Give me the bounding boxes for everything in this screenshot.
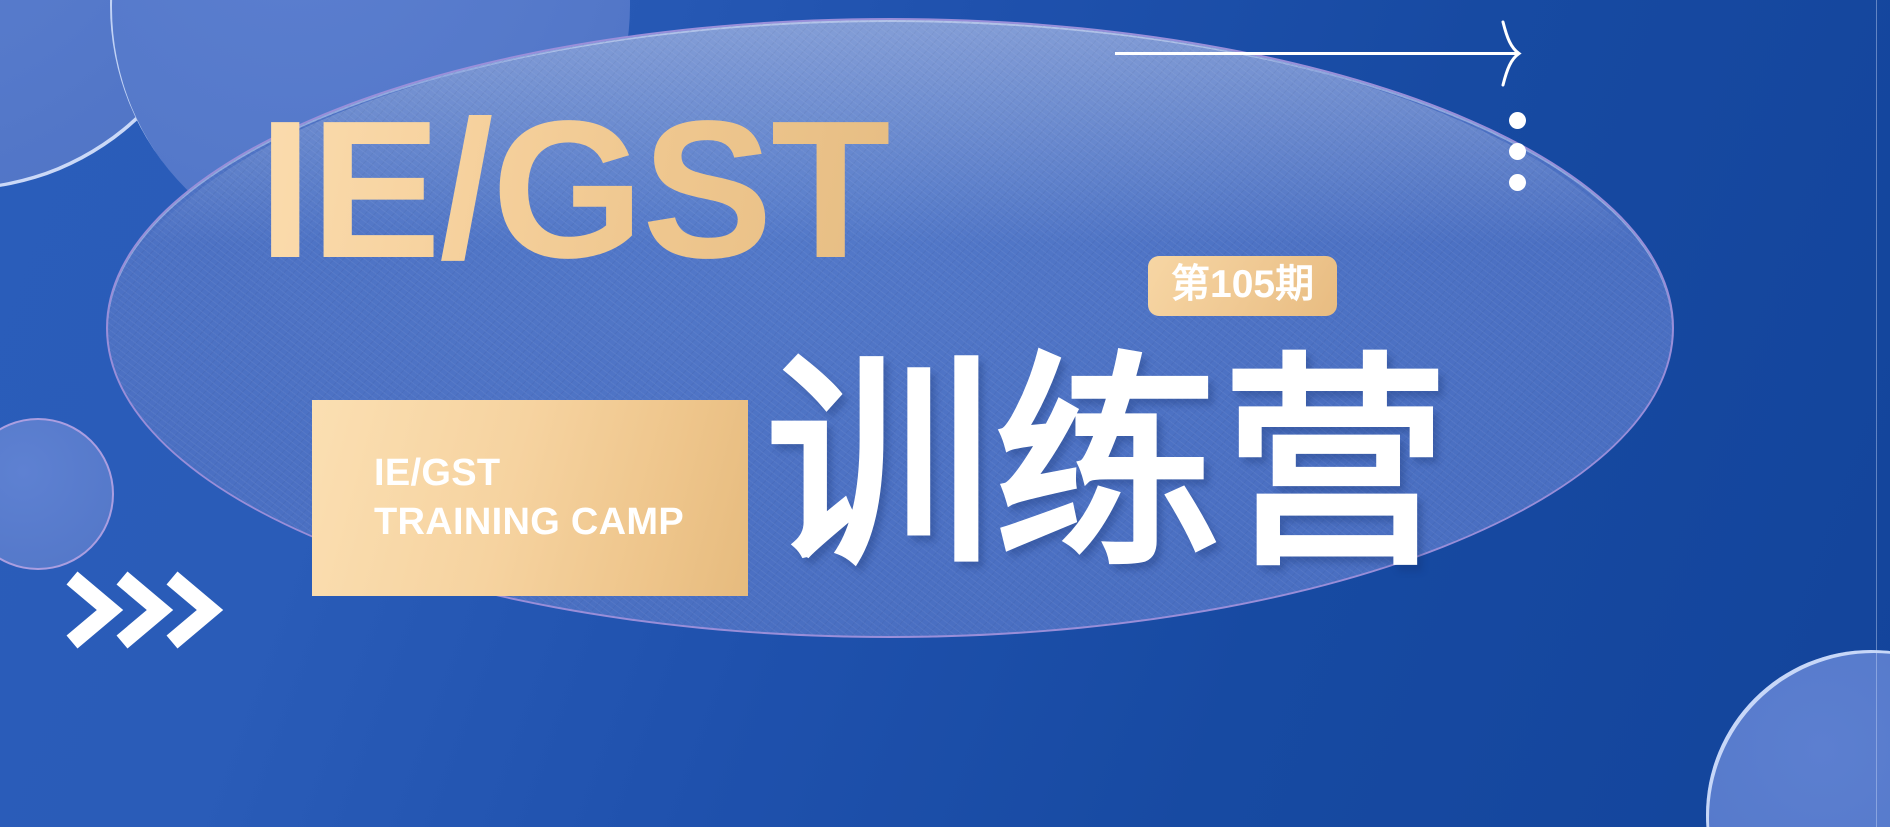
- triple-chevron-right-icon: [64, 560, 234, 665]
- long-right-arrow-icon: [1115, 16, 1535, 91]
- decor-circle-bottom-right: [1706, 650, 1890, 827]
- dot: [1509, 174, 1526, 191]
- decor-right-vertical-rule: [1876, 0, 1877, 827]
- dot: [1509, 143, 1526, 160]
- english-subtitle-line-1: IE/GST: [374, 449, 748, 498]
- english-subtitle-box: IE/GST TRAINING CAMP: [312, 400, 748, 596]
- chinese-headline: 训练营: [766, 352, 1450, 578]
- episode-badge: 第105期: [1148, 256, 1337, 316]
- promo-banner: IE/GST 第105期 IE/GST TRAINING CAMP 训练营: [0, 0, 1890, 827]
- english-subtitle-line-2: TRAINING CAMP: [374, 498, 748, 547]
- dot: [1509, 112, 1526, 129]
- three-dots-icon: [1509, 112, 1526, 191]
- decor-circle-left: [0, 418, 114, 570]
- decor-circle-top-left-a: [0, 0, 220, 190]
- page-title: IE/GST: [258, 92, 889, 288]
